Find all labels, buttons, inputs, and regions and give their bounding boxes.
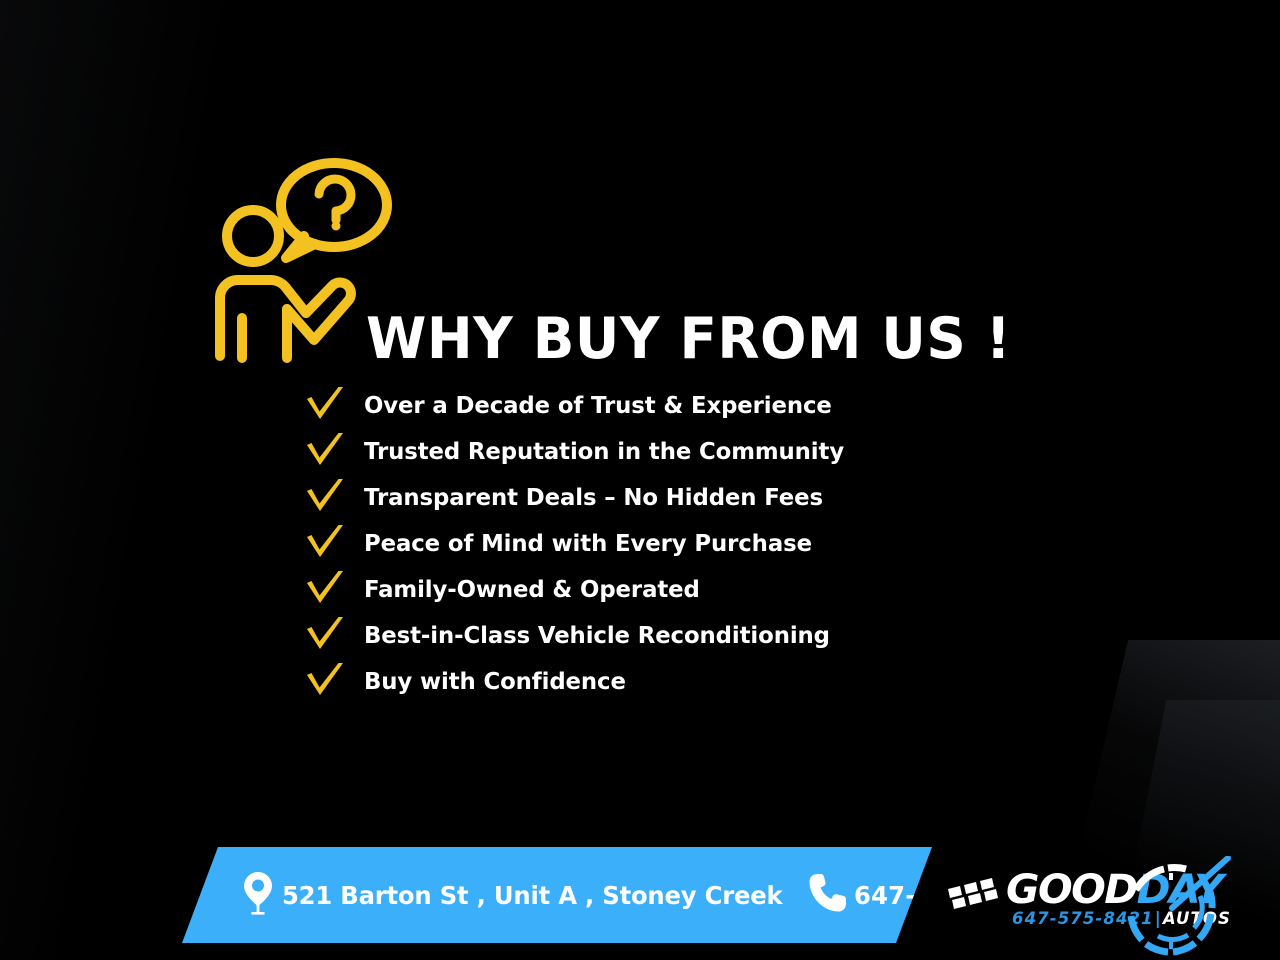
phone-handset-icon [808,872,848,919]
list-item: Over a Decade of Trust & Experience [300,382,1020,428]
list-item: Peace of Mind with Every Purchase [300,520,1020,566]
brand-logo: GOODDAY 647-575-8421|AUTOS [938,856,1278,960]
list-item-label: Family-Owned & Operated [364,575,700,603]
check-mark-icon [300,432,364,470]
list-item: Trusted Reputation in the Community [300,428,1020,474]
slide-canvas: WHY BUY FROM US ! Over a Decade of Trust… [0,0,1280,960]
list-item-label: Peace of Mind with Every Purchase [364,529,812,557]
benefits-list: Over a Decade of Trust & Experience Trus… [300,382,1020,704]
check-mark-icon [300,616,364,654]
address-text: 521 Barton St , Unit A , Stoney Creek [282,881,782,910]
list-item-label: Transparent Deals – No Hidden Fees [364,483,823,511]
checkered-flag-icon [946,878,1004,921]
speedometer-gauge-icon [1116,856,1236,960]
list-item-label: Best-in-Class Vehicle Reconditioning [364,621,830,649]
map-pin-icon [243,871,273,920]
check-mark-icon [300,570,364,608]
background-streak-left [0,0,310,960]
page-title: WHY BUY FROM US ! [366,311,1011,368]
check-mark-icon [300,524,364,562]
list-item: Buy with Confidence [300,658,1020,704]
list-item-label: Over a Decade of Trust & Experience [364,391,832,419]
list-item: Best-in-Class Vehicle Reconditioning [300,612,1020,658]
list-item: Transparent Deals – No Hidden Fees [300,474,1020,520]
contact-bar-content: 521 Barton St , Unit A , Stoney Creek 64… [243,872,1051,918]
list-item: Family-Owned & Operated [300,566,1020,612]
check-mark-icon [300,386,364,424]
check-mark-icon [300,662,364,700]
list-item-label: Buy with Confidence [364,667,626,695]
contact-bar: 521 Barton St , Unit A , Stoney Creek 64… [0,845,1000,945]
list-item-label: Trusted Reputation in the Community [364,437,844,465]
check-mark-icon [300,478,364,516]
